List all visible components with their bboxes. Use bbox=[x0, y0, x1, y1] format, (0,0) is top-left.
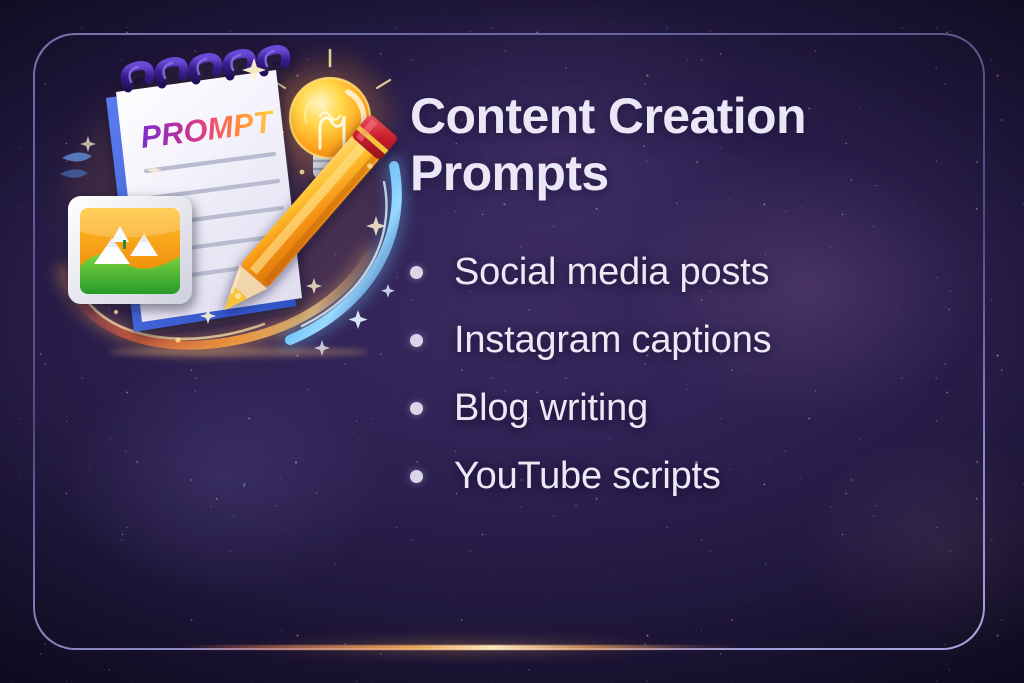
list-item: Social media posts bbox=[410, 238, 910, 306]
bullet-dot-icon bbox=[410, 402, 423, 415]
content-creation-illustration: PROMPT bbox=[58, 40, 398, 370]
list-item: YouTube scripts bbox=[410, 442, 910, 510]
bullet-dot-icon bbox=[410, 470, 423, 483]
bullet-label: Instagram captions bbox=[454, 319, 771, 362]
bullet-label: YouTube scripts bbox=[454, 455, 721, 498]
bottom-border-glow bbox=[180, 645, 740, 650]
bullet-label: Blog writing bbox=[454, 387, 648, 430]
list-item: Blog writing bbox=[410, 374, 910, 442]
slide-canvas: PROMPT bbox=[0, 0, 1024, 683]
slide-text-content: Content Creation Prompts Social media po… bbox=[410, 88, 910, 510]
bullet-list: Social media posts Instagram captions Bl… bbox=[410, 238, 910, 510]
page-title: Content Creation Prompts bbox=[410, 88, 910, 202]
bullet-dot-icon bbox=[410, 334, 423, 347]
photo-thumbnail-icon bbox=[68, 196, 192, 304]
bullet-dot-icon bbox=[410, 266, 423, 279]
list-item: Instagram captions bbox=[410, 306, 910, 374]
bullet-label: Social media posts bbox=[454, 251, 769, 294]
ground-light-streak bbox=[108, 347, 368, 357]
bottom-border-halo bbox=[150, 628, 770, 666]
